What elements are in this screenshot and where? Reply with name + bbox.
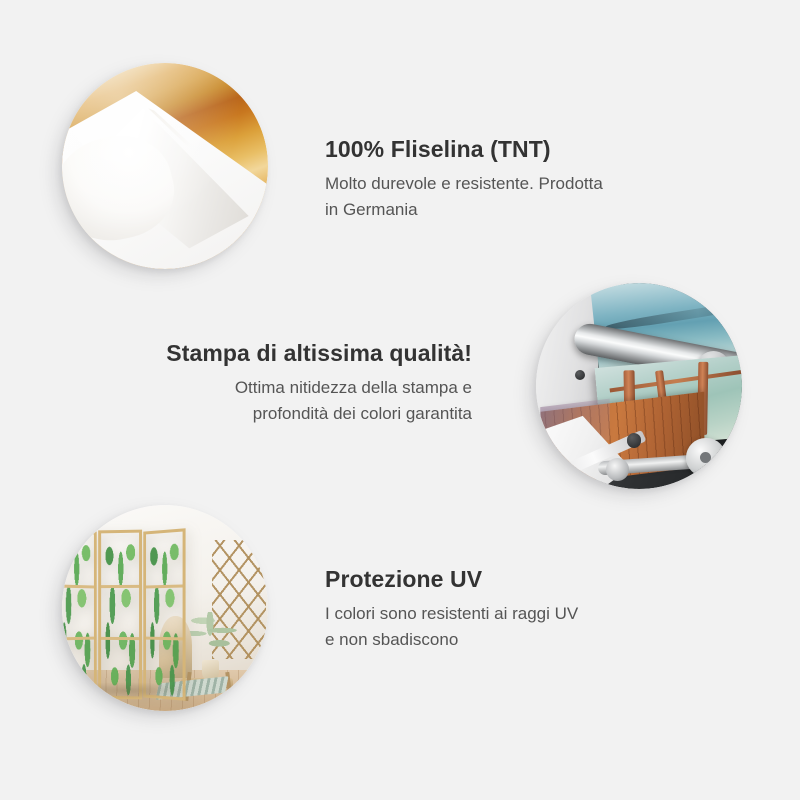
feature-highlights-stage: 100% Fliselina (TNT) Molto durevole e re…	[0, 0, 800, 800]
panel-crossbar	[101, 637, 139, 640]
panel-crossbar	[146, 637, 182, 641]
panel-crossbar	[62, 584, 94, 588]
feature-text-print-quality: Stampa di altissima qualità! Ottima niti…	[52, 340, 472, 426]
feature-desc-uv-protection-line2: e non sbadiscono	[325, 627, 745, 653]
feature-desc-nonwoven-line1: Molto durevole e resistente. Prodotta	[325, 171, 745, 197]
printing-machine-illustration	[536, 283, 742, 489]
feature-text-uv-protection: Protezione UV I colori sono resistenti a…	[325, 566, 745, 652]
panel-crossbar	[62, 637, 94, 641]
surface-gloss	[62, 63, 268, 269]
feature-text-nonwoven: 100% Fliselina (TNT) Molto durevole e re…	[325, 136, 745, 222]
feature-image-uv-protection	[62, 505, 268, 711]
feature-desc-print-quality-line1: Ottima nitidezza della stampa e	[52, 375, 472, 401]
tropical-leaf-pattern	[146, 531, 182, 697]
panel-crossbar	[146, 584, 182, 588]
feature-desc-nonwoven-line2: in Germania	[325, 197, 745, 223]
divider-panel	[62, 528, 96, 700]
print-horizon-streak	[604, 298, 742, 332]
feature-title-uv-protection: Protezione UV	[325, 566, 745, 592]
feature-image-nonwoven	[62, 63, 268, 269]
panel-crossbar	[101, 585, 139, 588]
feature-desc-uv-protection-line1: I colori sono resistenti ai raggi UV	[325, 601, 745, 627]
machine-knob	[627, 433, 641, 447]
tropical-leaf-pattern	[101, 532, 139, 696]
roller-hand-wheel	[686, 438, 725, 477]
folding-room-divider	[62, 530, 186, 699]
feature-title-print-quality: Stampa di altissima qualità!	[52, 340, 472, 366]
feature-image-print-quality	[536, 283, 742, 489]
room-divider-illustration	[62, 505, 268, 711]
tropical-leaf-pattern	[62, 531, 94, 697]
divider-floor-shadow	[62, 682, 190, 698]
roller-spindle	[606, 458, 629, 481]
feature-title-nonwoven: 100% Fliselina (TNT)	[325, 136, 745, 162]
nonwoven-illustration	[62, 63, 268, 269]
feature-desc-print-quality-line2: profondità dei colori garantita	[52, 401, 472, 427]
divider-panel	[98, 529, 142, 699]
divider-panel	[143, 528, 185, 700]
